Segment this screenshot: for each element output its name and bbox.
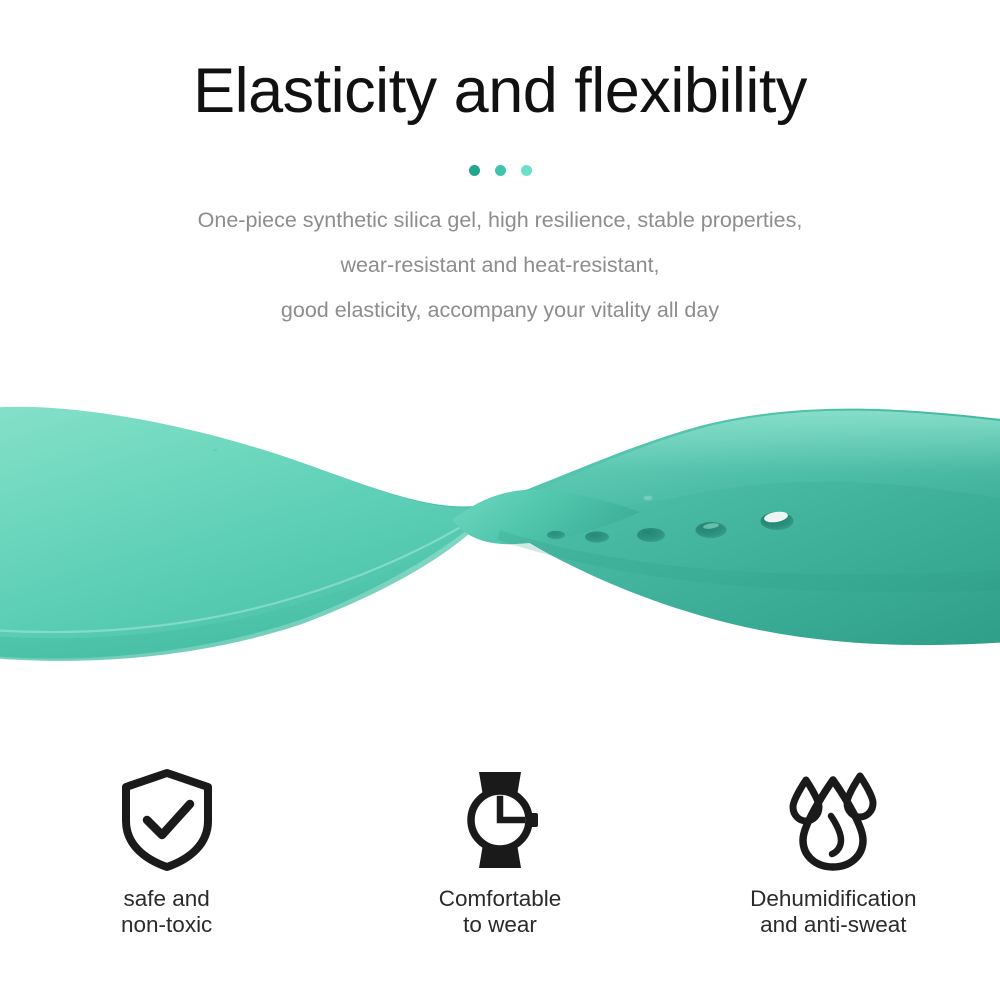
adjustment-hole-3 bbox=[637, 528, 665, 542]
feature-label-line-1: Dehumidification bbox=[750, 886, 916, 912]
description-line-3: good elasticity, accompany your vitality… bbox=[0, 288, 1000, 333]
feature-row: safe and non-toxic bbox=[0, 770, 1000, 950]
feature-label-line-1: Comfortable bbox=[439, 886, 562, 912]
water-drops-icon bbox=[781, 770, 885, 870]
product-feature-banner: Elasticity and flexibility One-piece syn… bbox=[0, 0, 1000, 1000]
band-surface-speck bbox=[644, 496, 653, 501]
divider-dot-dark bbox=[469, 165, 480, 176]
description-line-2: wear-resistant and heat-resistant, bbox=[0, 243, 1000, 288]
feature-label-line-1: safe and bbox=[121, 886, 212, 912]
feature-label-line-2: and anti-sweat bbox=[750, 912, 916, 938]
page-title: Elasticity and flexibility bbox=[0, 58, 1000, 124]
feature-label-comfortable-to-wear: Comfortable to wear bbox=[439, 886, 562, 938]
feature-label-dehumidification: Dehumidification and anti-sweat bbox=[750, 886, 916, 938]
feature-item-dehumidification: Dehumidification and anti-sweat bbox=[667, 770, 1000, 950]
description-block: One-piece synthetic silica gel, high res… bbox=[0, 198, 1000, 333]
decorative-dot-divider bbox=[0, 165, 1000, 176]
divider-dot-mid bbox=[495, 165, 506, 176]
feature-label-line-2: to wear bbox=[439, 912, 562, 938]
description-line-1: One-piece synthetic silica gel, high res… bbox=[0, 198, 1000, 243]
adjustment-hole-2 bbox=[585, 531, 609, 542]
feature-label-line-2: non-toxic bbox=[121, 912, 212, 938]
product-image-twisted-band bbox=[0, 380, 1000, 680]
band-surface-speck-2 bbox=[213, 449, 217, 452]
wristwatch-icon bbox=[451, 770, 549, 870]
adjustment-hole-1 bbox=[547, 531, 565, 539]
divider-dot-light bbox=[521, 165, 532, 176]
feature-item-safe-non-toxic: safe and non-toxic bbox=[0, 770, 333, 950]
feature-item-comfortable-to-wear: Comfortable to wear bbox=[333, 770, 666, 950]
feature-label-safe-non-toxic: safe and non-toxic bbox=[121, 886, 212, 938]
shield-check-icon bbox=[118, 770, 216, 870]
